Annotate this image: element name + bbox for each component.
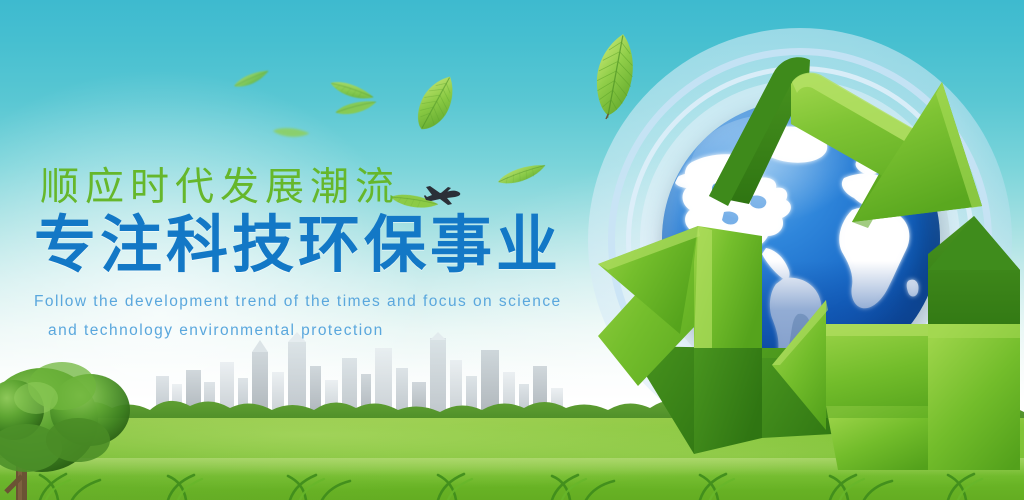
grass-blades-icon	[0, 466, 1024, 500]
subtitle-line-2: and technology environmental protection	[48, 317, 594, 346]
headline-copy: 顺应时代发展潮流 专注科技环保事业 Follow the development…	[34, 168, 594, 345]
recycle-arrows-icon	[576, 18, 1024, 470]
subtitle: Follow the development trend of the time…	[34, 288, 594, 345]
recycle-arrow-top	[709, 57, 982, 228]
headline-green: 顺应时代发展潮流	[40, 168, 594, 207]
subtitle-line-1: Follow the development trend of the time…	[34, 293, 562, 310]
headline-blue: 专注科技环保事业	[34, 213, 594, 278]
eco-technology-banner: 顺应时代发展潮流 专注科技环保事业 Follow the development…	[0, 0, 1024, 500]
